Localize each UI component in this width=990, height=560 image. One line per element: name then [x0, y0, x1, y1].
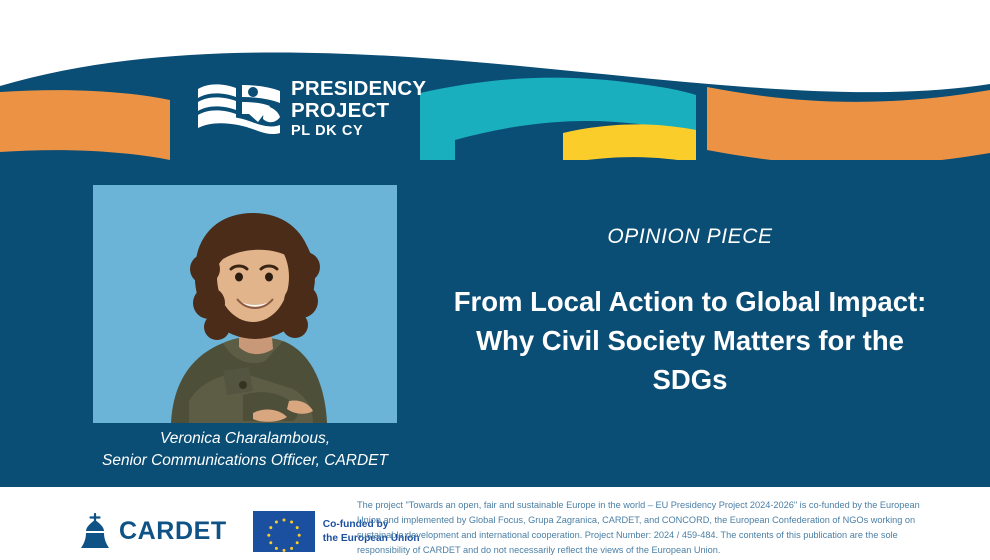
logo-line-1: PRESIDENCY [291, 79, 426, 100]
cardet-wordmark: CARDET [119, 517, 227, 546]
presidency-flag-icon [196, 81, 282, 137]
opinion-piece-social-card: PRESIDENCY PROJECT PL DK CY [0, 0, 990, 560]
funding-disclaimer: The project "Towards an open, fair and s… [357, 498, 932, 558]
article-text-block: OPINION PIECE From Local Action to Globa… [440, 225, 940, 399]
logo-line-2: PROJECT [291, 101, 426, 122]
caption-role: Senior Communications Officer, CARDET [33, 450, 457, 472]
presidency-wordmark: PRESIDENCY PROJECT PL DK CY [291, 79, 426, 139]
cardet-logo: CARDET [78, 513, 227, 550]
portrait-caption: Veronica Charalambous, Senior Communicat… [33, 428, 457, 473]
caption-name: Veronica Charalambous, [33, 428, 457, 450]
logo-line-3: PL DK CY [291, 124, 426, 139]
article-kicker: OPINION PIECE [440, 225, 940, 249]
speaker-portrait [93, 185, 397, 423]
cardet-bell-icon [78, 513, 112, 550]
eu-flag-icon [253, 511, 315, 552]
presidency-project-logo: PRESIDENCY PROJECT PL DK CY [196, 78, 406, 140]
orange-ribbon-left [0, 90, 170, 160]
article-headline: From Local Action to Global Impact: Why … [440, 282, 940, 399]
